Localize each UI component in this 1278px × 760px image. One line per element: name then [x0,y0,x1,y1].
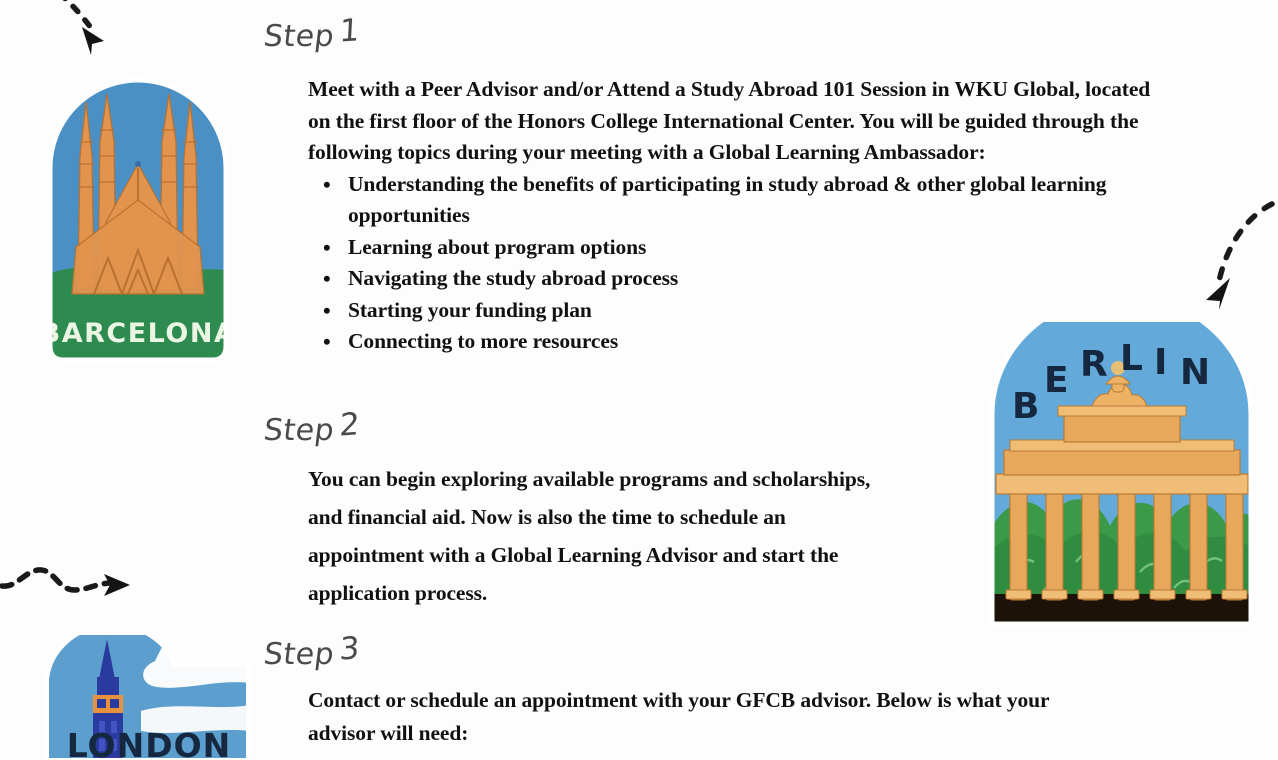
step-2-body: You can begin exploring available progra… [308,460,878,612]
badge-berlin: B E R L I N [988,322,1255,628]
arrow-right-icon [1196,196,1278,310]
step-3-intro: Contact or schedule an appointment with … [308,684,1068,750]
step-2-intro: You can begin exploring available progra… [308,460,878,612]
step-1-intro: Meet with a Peer Advisor and/or Attend a… [308,74,1153,169]
step-2-heading-label: Step [262,413,337,448]
step-2-heading-number: 2 [339,406,361,443]
badge-barcelona: BARCELONA [42,72,234,364]
badge-london: LONDON [45,635,250,760]
step-1-body: Meet with a Peer Advisor and/or Attend a… [308,74,1153,358]
list-item: Learning about program options [348,232,1153,264]
step-3-heading: Step3 [262,636,362,672]
step-3-body: Contact or schedule an appointment with … [308,684,1068,750]
infographic-page: BARCELONA Step1 Meet with a Peer Advisor… [0,0,1278,760]
barcelona-label: BARCELONA [42,318,234,349]
list-item: Navigating the study abroad process [348,263,1153,295]
step-3-heading-label: Step [262,637,337,672]
step-1-heading: Step1 [262,18,362,54]
step-1-heading-label: Step [262,19,337,54]
arrow-left-middle-icon [0,556,136,606]
step-2-heading: Step2 [262,412,362,448]
step-3-heading-number: 3 [339,630,361,667]
london-label: LONDON [67,726,232,760]
arrow-top-left-icon [52,0,122,56]
step-1-heading-number: 1 [339,12,361,49]
list-item: Understanding the benefits of participat… [348,169,1153,232]
